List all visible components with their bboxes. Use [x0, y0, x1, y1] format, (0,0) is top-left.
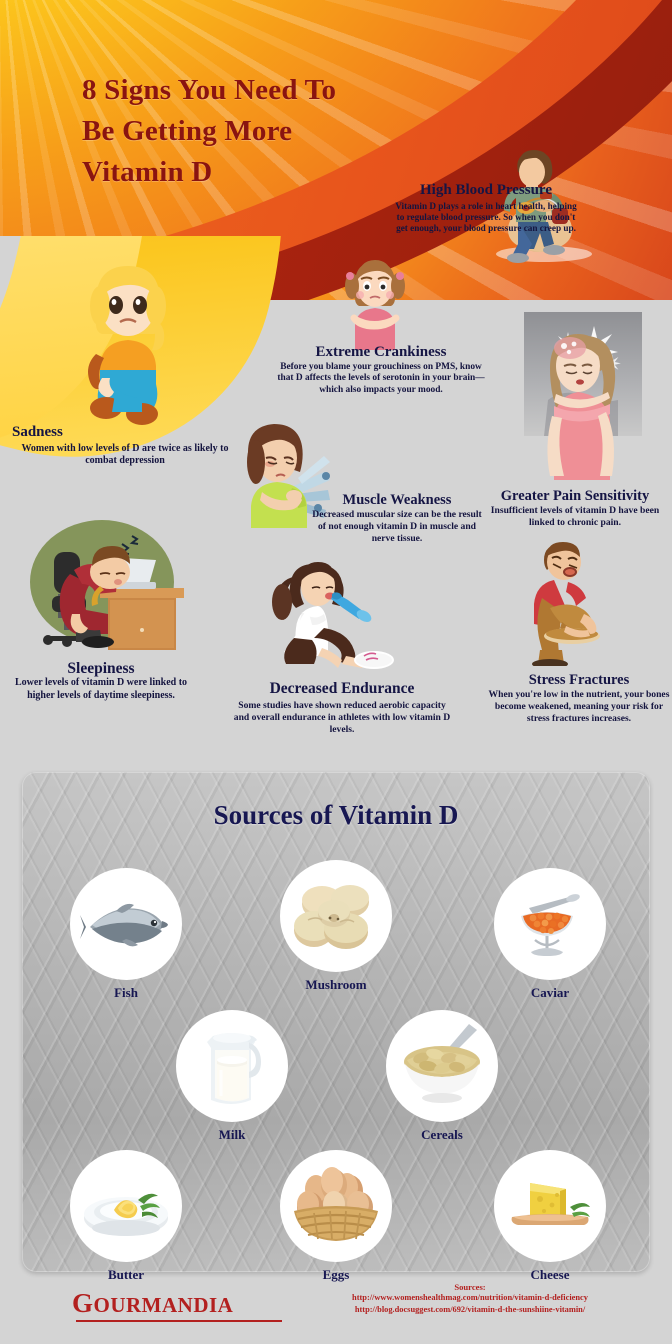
food-label-cereals: Cereals: [386, 1127, 498, 1143]
logo-first-letter: G: [72, 1288, 94, 1318]
food-label-milk: Milk: [176, 1127, 288, 1143]
gourmandia-logo[interactable]: GOURMANDIA: [72, 1288, 233, 1319]
infographic-page: 8 Signs You Need To Be Getting More Vita…: [0, 0, 672, 1344]
sign-muscle-weakness: Muscle Weakness Decreased muscular size …: [312, 492, 482, 544]
cereal-bowl-icon: [391, 1020, 493, 1112]
food-item-eggs[interactable]: Eggs: [280, 1150, 392, 1283]
source-url-2[interactable]: http://blog.docsuggest.com/692/vitamin-d…: [300, 1304, 640, 1316]
cereals-bubble: [386, 1010, 498, 1122]
sign-extreme-crankiness: Extreme Crankiness Before you blame your…: [272, 344, 490, 396]
sign-title-greater-pain-sensitivity: Greater Pain Sensitivity: [478, 488, 672, 504]
sign-body-sadness: Women with low levels of D are twice as …: [12, 443, 230, 467]
logo-underline: [76, 1320, 282, 1322]
sign-title-sadness: Sadness: [12, 424, 230, 441]
source-references: Sources: http://www.womenshealthmag.com/…: [300, 1282, 640, 1316]
food-item-butter[interactable]: Butter: [70, 1150, 182, 1283]
caviar-bubble: [494, 868, 606, 980]
milk-bubble: [176, 1010, 288, 1122]
sign-body-extreme-crankiness: Before you blame your grouchiness on PMS…: [272, 362, 490, 396]
page-title-line-2: Be Getting More: [82, 111, 502, 152]
food-label-caviar: Caviar: [494, 985, 606, 1001]
sign-body-high-blood-pressure: Vitamin D plays a role in heart health, …: [392, 201, 580, 235]
egg-basket-icon: [286, 1163, 386, 1249]
fish-bubble: [70, 868, 182, 980]
sign-greater-pain-sensitivity: Greater Pain Sensitivity Insufficient le…: [478, 488, 672, 529]
sign-body-stress-fractures: When you're low in the nutrient, your bo…: [488, 689, 670, 724]
source-url-1[interactable]: http://www.womenshealthmag.com/nutrition…: [300, 1292, 640, 1304]
sign-body-greater-pain-sensitivity: Insufficient levels of vitamin D have be…: [478, 505, 672, 528]
butter-dish-icon: [76, 1168, 176, 1244]
sign-body-decreased-endurance: Some studies have shown reduced aerobic …: [232, 700, 452, 735]
sign-high-blood-pressure: High Blood Pressure Vitamin D plays a ro…: [392, 182, 580, 234]
sign-decreased-endurance: Decreased Endurance Some studies have sh…: [232, 680, 452, 735]
eggs-bubble: [280, 1150, 392, 1262]
food-item-cereals[interactable]: Cereals: [386, 1010, 498, 1143]
mushroom-bubble: [280, 860, 392, 972]
sign-body-muscle-weakness: Decreased muscular size can be the resul…: [312, 509, 482, 544]
footer: GOURMANDIA Sources: http://www.womenshea…: [0, 1272, 672, 1344]
sign-sleepiness: Sleepiness Lower levels of vitamin D wer…: [10, 660, 192, 702]
fish-icon: [78, 889, 174, 959]
milk-jug-icon: [191, 1020, 273, 1112]
food-item-milk[interactable]: Milk: [176, 1010, 288, 1143]
caviar-icon: [503, 886, 597, 962]
food-item-fish[interactable]: Fish: [70, 868, 182, 1001]
food-item-mushroom[interactable]: Mushroom: [280, 860, 392, 993]
signs-list: High Blood Pressure Vitamin D plays a ro…: [0, 160, 672, 760]
sign-title-sleepiness: Sleepiness: [10, 660, 192, 677]
cheese-wedge-icon: [500, 1169, 600, 1243]
food-label-mushroom: Mushroom: [280, 977, 392, 993]
sources-heading: Sources:: [300, 1282, 640, 1292]
food-item-caviar[interactable]: Caviar: [494, 868, 606, 1001]
sign-stress-fractures: Stress Fractures When you're low in the …: [488, 672, 670, 724]
sources-section-title: Sources of Vitamin D: [22, 800, 650, 831]
butter-bubble: [70, 1150, 182, 1262]
cheese-bubble: [494, 1150, 606, 1262]
sign-title-extreme-crankiness: Extreme Crankiness: [272, 344, 490, 361]
sign-title-stress-fractures: Stress Fractures: [488, 672, 670, 688]
mushroom-icon: [288, 874, 384, 958]
logo-rest: OURMANDIA: [94, 1293, 234, 1317]
food-item-cheese[interactable]: Cheese: [494, 1150, 606, 1283]
sign-body-sleepiness: Lower levels of vitamin D were linked to…: [10, 677, 192, 701]
page-title-line-1: 8 Signs You Need To: [82, 70, 502, 111]
sign-title-high-blood-pressure: High Blood Pressure: [392, 182, 580, 199]
sources-of-vitamin-d-panel: Sources of Vitamin D Fish: [22, 772, 650, 1272]
sign-title-decreased-endurance: Decreased Endurance: [232, 680, 452, 697]
food-label-fish: Fish: [70, 985, 182, 1001]
sign-sadness: Sadness Women with low levels of D are t…: [12, 424, 230, 467]
sign-title-muscle-weakness: Muscle Weakness: [312, 492, 482, 508]
